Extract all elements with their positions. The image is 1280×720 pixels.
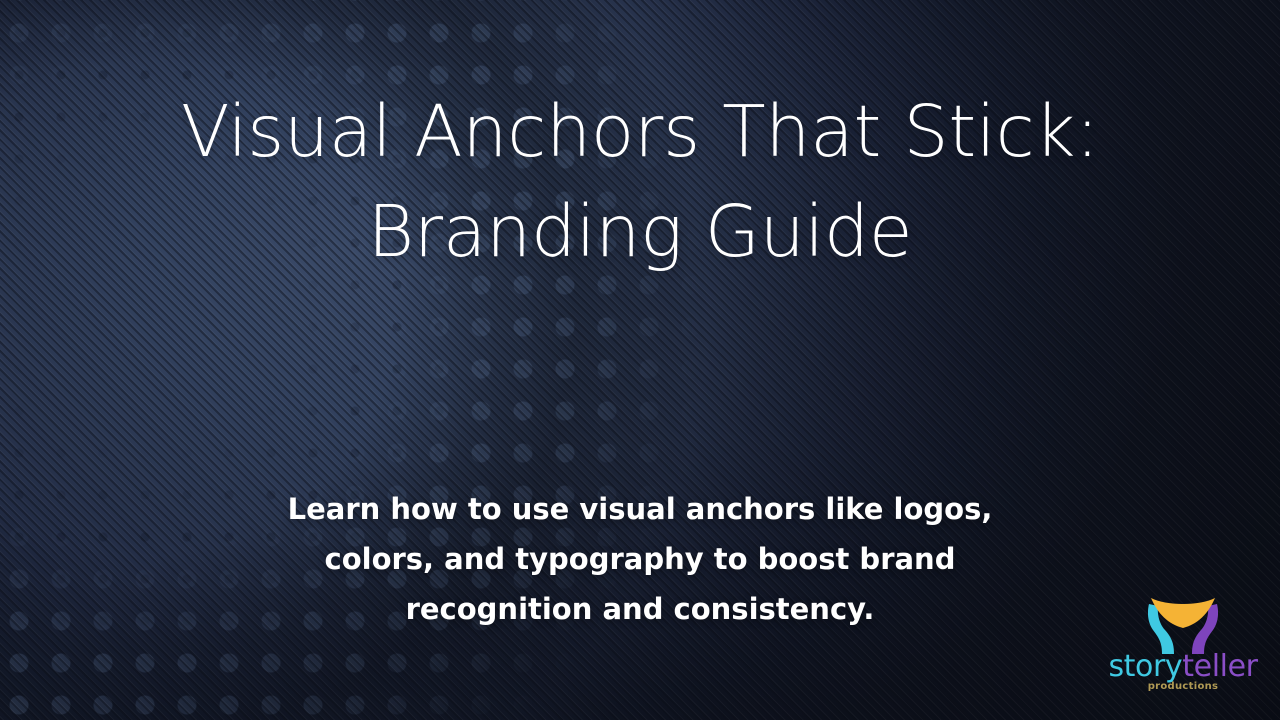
title-slide: Visual Anchors That Stick: Branding Guid… <box>0 0 1280 720</box>
logo-tagline: productions <box>1108 682 1258 692</box>
slide-content: Visual Anchors That Stick: Branding Guid… <box>0 0 1280 720</box>
wordmark-teller: teller <box>1182 649 1257 684</box>
storyteller-logo: storyteller productions <box>1108 594 1258 706</box>
wordmark-story: story <box>1108 649 1182 684</box>
storyteller-y-mark-icon <box>1148 594 1218 656</box>
slide-subtitle: Learn how to use visual anchors like log… <box>240 485 1040 635</box>
storyteller-wordmark: storyteller <box>1108 652 1258 682</box>
slide-title: Visual Anchors That Stick: Branding Guid… <box>0 82 1280 284</box>
